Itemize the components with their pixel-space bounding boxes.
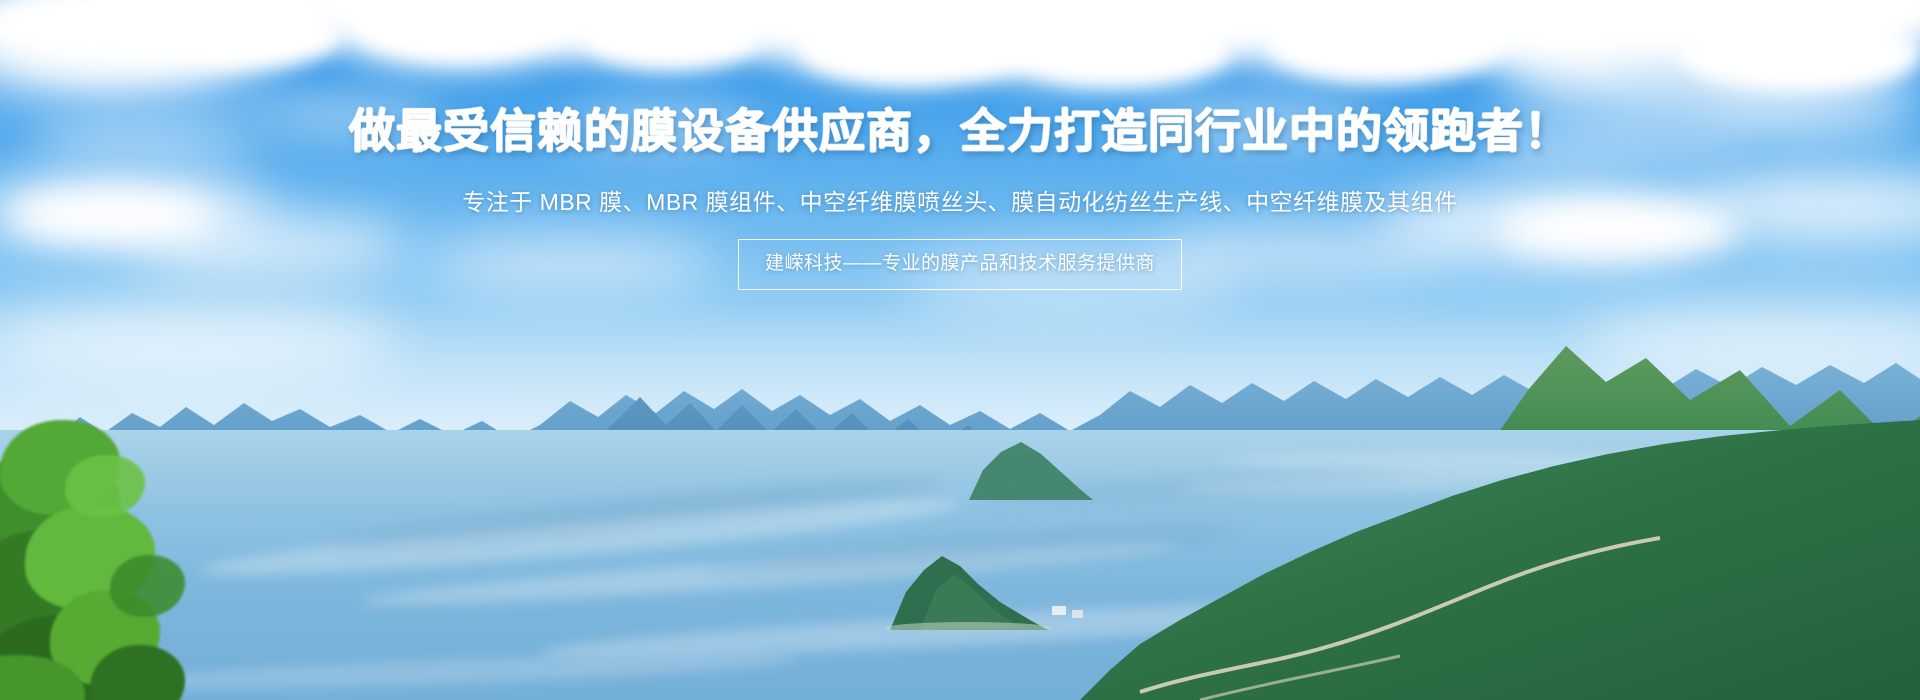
hero-banner: 做最受信赖的膜设备供应商，全力打造同行业中的领跑者！ 专注于 MBR 膜、MBR… xyxy=(0,0,1920,700)
banner-subtitle: 专注于 MBR 膜、MBR 膜组件、中空纤维膜喷丝头、膜自动化纺丝生产线、中空纤… xyxy=(0,184,1920,220)
text-overlay: 做最受信赖的膜设备供应商，全力打造同行业中的领跑者！ 专注于 MBR 膜、MBR… xyxy=(0,0,1920,700)
banner-headline: 做最受信赖的膜设备供应商，全力打造同行业中的领跑者！ xyxy=(0,102,1920,160)
banner-tagline-box[interactable]: 建嵘科技——专业的膜产品和技术服务提供商 xyxy=(738,239,1182,290)
